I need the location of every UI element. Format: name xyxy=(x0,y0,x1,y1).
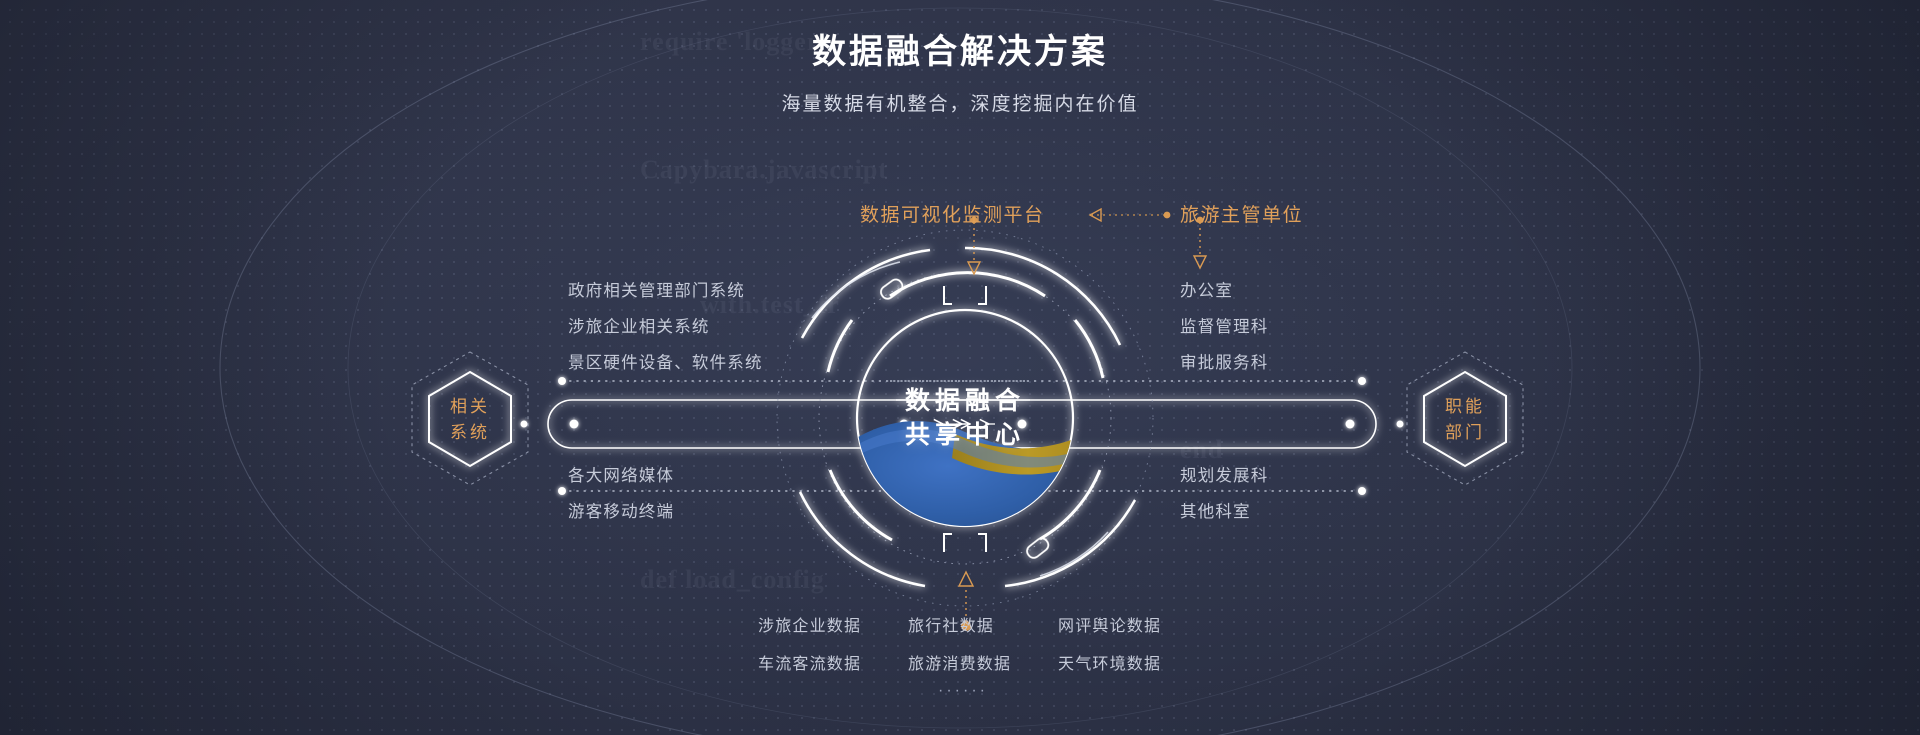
right-hexagon-line2: 部门 xyxy=(1405,420,1525,446)
page-subtitle: 海量数据有机整合，深度挖掘内在价值 xyxy=(0,89,1920,116)
left-source-item-1: 涉旅企业相关系统 xyxy=(568,313,710,337)
left-source-item-2: 景区硬件设备、软件系统 xyxy=(568,349,763,373)
node-label-visualization-platform[interactable]: 数据可视化监测平台 xyxy=(860,200,1045,227)
node-label-tourism-authority[interactable]: 旅游主管单位 xyxy=(1180,200,1303,227)
bottom-data-item-0: 涉旅企业数据 xyxy=(758,612,861,636)
right-dept-item-2: 审批服务科 xyxy=(1180,349,1269,373)
page-title: 数据融合解决方案 xyxy=(0,32,1920,73)
page-header: 数据融合解决方案 海量数据有机整合，深度挖掘内在价值 xyxy=(0,32,1920,116)
bottom-ellipsis: ······ xyxy=(938,682,988,700)
core-label-line2: 共享中心 xyxy=(815,419,1115,453)
left-source-item-3: 各大网络媒体 xyxy=(568,462,674,486)
bottom-data-item-5: 天气环境数据 xyxy=(1058,650,1161,674)
left-source-item-4: 游客移动终端 xyxy=(568,498,674,522)
bottom-data-item-2: 网评舆论数据 xyxy=(1058,612,1161,636)
right-dept-item-3: 规划发展科 xyxy=(1180,462,1269,486)
left-hexagon-label[interactable]: 相关 系统 xyxy=(410,394,530,447)
bottom-data-item-4: 旅游消费数据 xyxy=(908,650,1011,674)
bottom-data-item-1: 旅行社数据 xyxy=(908,612,994,636)
right-hexagon-label[interactable]: 职能 部门 xyxy=(1405,394,1525,447)
bottom-data-item-3: 车流客流数据 xyxy=(758,650,861,674)
left-hexagon-line2: 系统 xyxy=(410,420,530,446)
core-center-label: 数据融合 共享中心 xyxy=(815,385,1115,453)
right-dept-item-0: 办公室 xyxy=(1180,277,1233,301)
core-label-line1: 数据融合 xyxy=(815,385,1115,419)
left-source-item-0: 政府相关管理部门系统 xyxy=(568,277,745,301)
right-dept-item-1: 监督管理科 xyxy=(1180,313,1269,337)
right-hexagon-line1: 职能 xyxy=(1405,394,1525,420)
left-hexagon-line1: 相关 xyxy=(410,394,530,420)
right-dept-item-4: 其他科室 xyxy=(1180,498,1251,522)
